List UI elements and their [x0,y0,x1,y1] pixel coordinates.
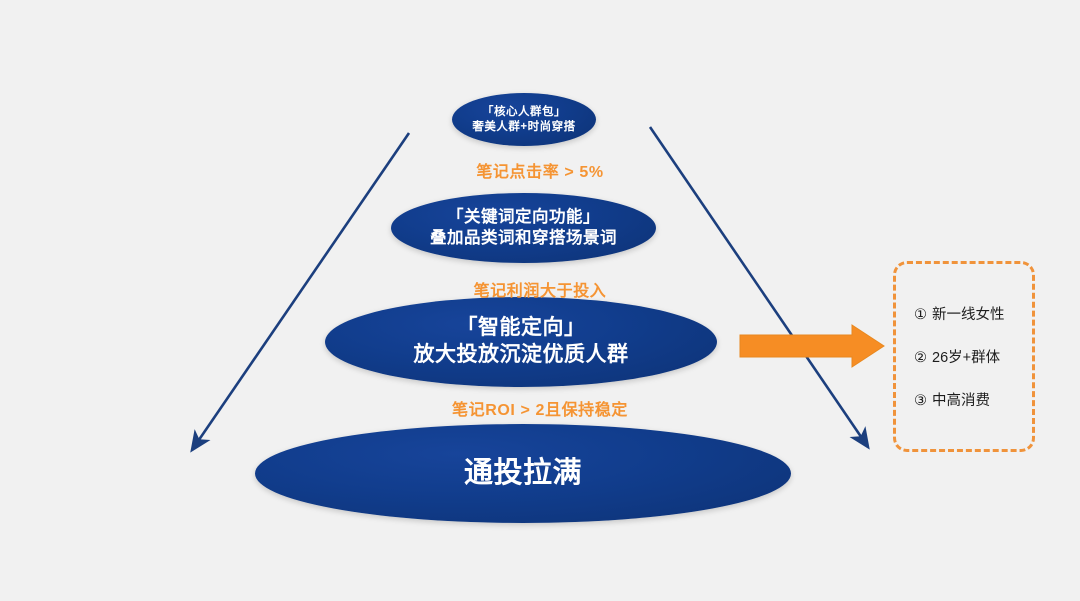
stage-full-line1: 通投拉满 [464,455,582,492]
gate-click-rate: 笔记点击率 > 5% [0,158,1080,182]
stage-keyword-line2: 叠加品类词和穿搭场景词 [430,228,617,249]
audience-item-2: ②26岁+群体 [914,346,1000,367]
stage-smart-line2: 放大投放沉淀优质人群 [414,342,629,369]
audience-item-2-number: ② [914,350,927,366]
audience-item-1-label: 新一线女性 [932,307,1005,323]
audience-item-3-number: ③ [914,393,927,409]
audience-item-1-number: ① [914,307,927,323]
audience-callout-box: ①新一线女性 ②26岁+群体 ③中高消费 [893,261,1035,452]
stage-keyword-targeting[interactable]: 「关键词定向功能」 叠加品类词和穿搭场景词 [391,193,656,263]
stage-core-audience-package[interactable]: 「核心人群包」 奢美人群+时尚穿搭 [452,93,596,146]
audience-item-3: ③中高消费 [914,389,990,410]
stage-smart-line1: 「智能定向」 [457,315,586,342]
stage-core-line2: 奢美人群+时尚穿搭 [472,120,575,135]
to-audience-arrow [740,325,884,367]
diagram-canvas: 「核心人群包」 奢美人群+时尚穿搭 「关键词定向功能」 叠加品类词和穿搭场景词 … [0,0,1080,601]
stage-full-delivery[interactable]: 通投拉满 [255,424,791,523]
stage-smart-targeting[interactable]: 「智能定向」 放大投放沉淀优质人群 [325,297,717,387]
audience-item-2-label: 26岁+群体 [932,350,1000,366]
audience-item-3-label: 中高消费 [932,393,990,409]
audience-item-1: ①新一线女性 [914,303,1005,324]
stage-core-line1: 「核心人群包」 [482,105,566,120]
stage-keyword-line1: 「关键词定向功能」 [447,207,600,228]
